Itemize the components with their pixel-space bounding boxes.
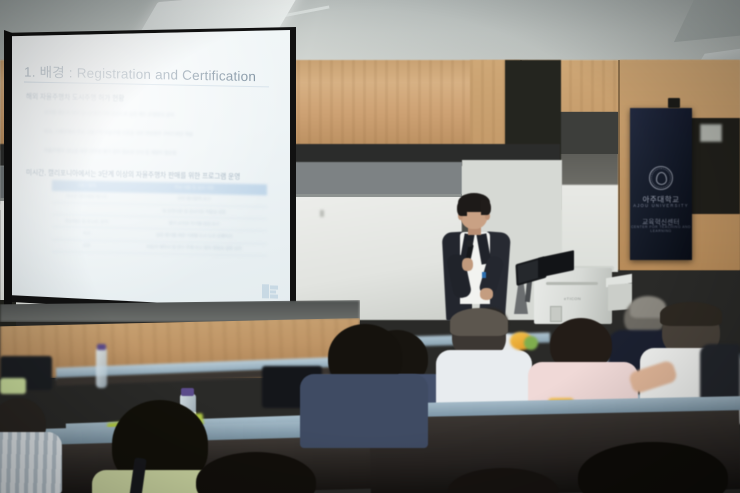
desk-object[interactable] xyxy=(0,378,26,394)
presenter-hand-left xyxy=(462,258,473,271)
panel-seam xyxy=(618,60,620,270)
lectern-brand-label: eTICON xyxy=(564,296,581,301)
projection-screen[interactable]: 1. 배경 : Registration and Certification 해… xyxy=(10,30,290,312)
wall-plaque xyxy=(700,124,722,142)
presenter-hair-side xyxy=(481,200,491,215)
whiteboard-magnet xyxy=(320,210,324,217)
screen-glare xyxy=(10,30,290,312)
microphone-head xyxy=(466,240,473,247)
banner-shading xyxy=(630,108,692,260)
audience-hair xyxy=(660,302,722,326)
audience-body xyxy=(700,344,740,404)
bottle-cap xyxy=(181,388,194,396)
university-banner: 아주대학교 AJOU UNIVERSITY 교육혁신센터 CENTER FOR … xyxy=(630,108,692,260)
whiteboard-frame xyxy=(268,194,462,197)
snack-pack[interactable] xyxy=(524,336,538,350)
audience-hair xyxy=(450,308,508,336)
water-bottle[interactable] xyxy=(96,348,107,388)
presenter-hair-side xyxy=(457,200,467,216)
audience-body xyxy=(300,374,428,448)
bottle-cap xyxy=(97,344,106,350)
audience-body xyxy=(0,432,62,493)
lectern-control-panel[interactable] xyxy=(550,306,562,322)
presenter-badge xyxy=(482,272,486,278)
doorway-shadow xyxy=(556,112,618,154)
projector-mount xyxy=(668,98,680,108)
presenter-hand-right xyxy=(480,288,493,300)
screen-left-border xyxy=(4,30,12,316)
lecture-hall-photo: 아주대학교 AJOU UNIVERSITY 교육혁신센터 CENTER FOR … xyxy=(0,0,740,493)
presenter xyxy=(438,196,512,324)
lectern-slot xyxy=(546,282,598,285)
lectern: eTICON xyxy=(512,254,616,324)
